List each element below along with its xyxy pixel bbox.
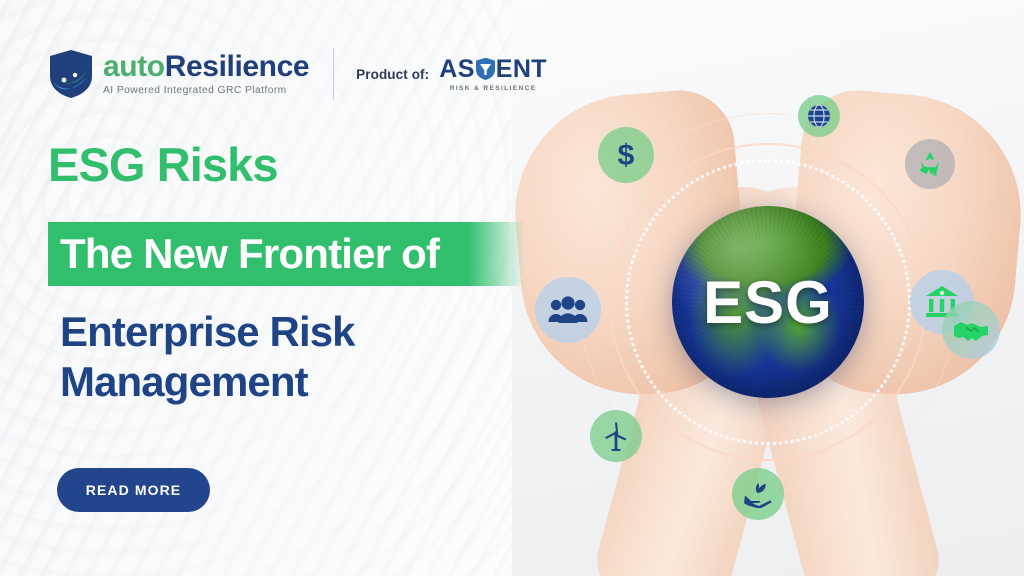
brand-name-auto: auto <box>103 50 165 83</box>
hand-plant-icon <box>743 480 773 508</box>
parent-brand-wordmark: AS ENT <box>439 57 547 82</box>
globe-grid-icon <box>806 103 832 129</box>
headline-line-4: Management <box>60 358 530 405</box>
headline-block: ESG Risks The New Frontier of Enterprise… <box>48 140 518 190</box>
parent-brand-as: AS <box>439 57 475 82</box>
people-group-icon <box>548 295 588 325</box>
globe-grid-icon-badge[interactable] <box>798 95 840 137</box>
brand-name: autoResilience <box>103 52 309 83</box>
handshake-icon-badge[interactable] <box>942 301 1000 359</box>
recycle-icon-badge[interactable] <box>905 139 955 189</box>
dollar-icon: $ <box>611 138 641 172</box>
handshake-icon <box>953 317 989 343</box>
svg-text:$: $ <box>618 139 635 172</box>
wind-turbine-icon-badge[interactable] <box>590 410 642 462</box>
dollar-icon-badge[interactable]: $ <box>598 127 654 183</box>
hand-plant-icon-badge[interactable] <box>732 468 784 520</box>
brand-wordmark: autoResilience AI Powered Integrated GRC… <box>103 52 309 96</box>
headline-line-2: The New Frontier of <box>60 232 530 276</box>
logo-divider <box>333 48 334 100</box>
headline-line-3: Enterprise Risk <box>60 308 530 355</box>
parent-brand-logo: AS ENT RISK & RESILIENCE <box>439 57 547 92</box>
brand-header: autoResilience AI Powered Integrated GRC… <box>48 48 547 100</box>
recycle-icon <box>915 149 945 179</box>
headline-line-1: ESG Risks <box>48 140 518 190</box>
people-group-icon-badge[interactable] <box>535 277 601 343</box>
product-of-label: Product of: <box>356 67 429 82</box>
brand-name-resilience: Resilience <box>165 50 309 83</box>
globe-esg-label: ESG <box>672 206 864 398</box>
esg-marketing-banner: ESG $ <box>0 0 1024 576</box>
ascent-shield-icon <box>475 57 496 81</box>
parent-brand-subtitle: RISK & RESILIENCE <box>439 85 547 92</box>
shield-swoosh-icon <box>48 49 94 99</box>
read-more-button[interactable]: READ MORE <box>57 468 210 512</box>
wind-turbine-icon <box>602 421 630 451</box>
hands-holding-globe-photo: ESG $ <box>512 0 1024 576</box>
parent-brand-ent: ENT <box>496 57 547 82</box>
grass-globe: ESG <box>672 206 864 398</box>
brand-tagline: AI Powered Integrated GRC Platform <box>103 85 309 96</box>
